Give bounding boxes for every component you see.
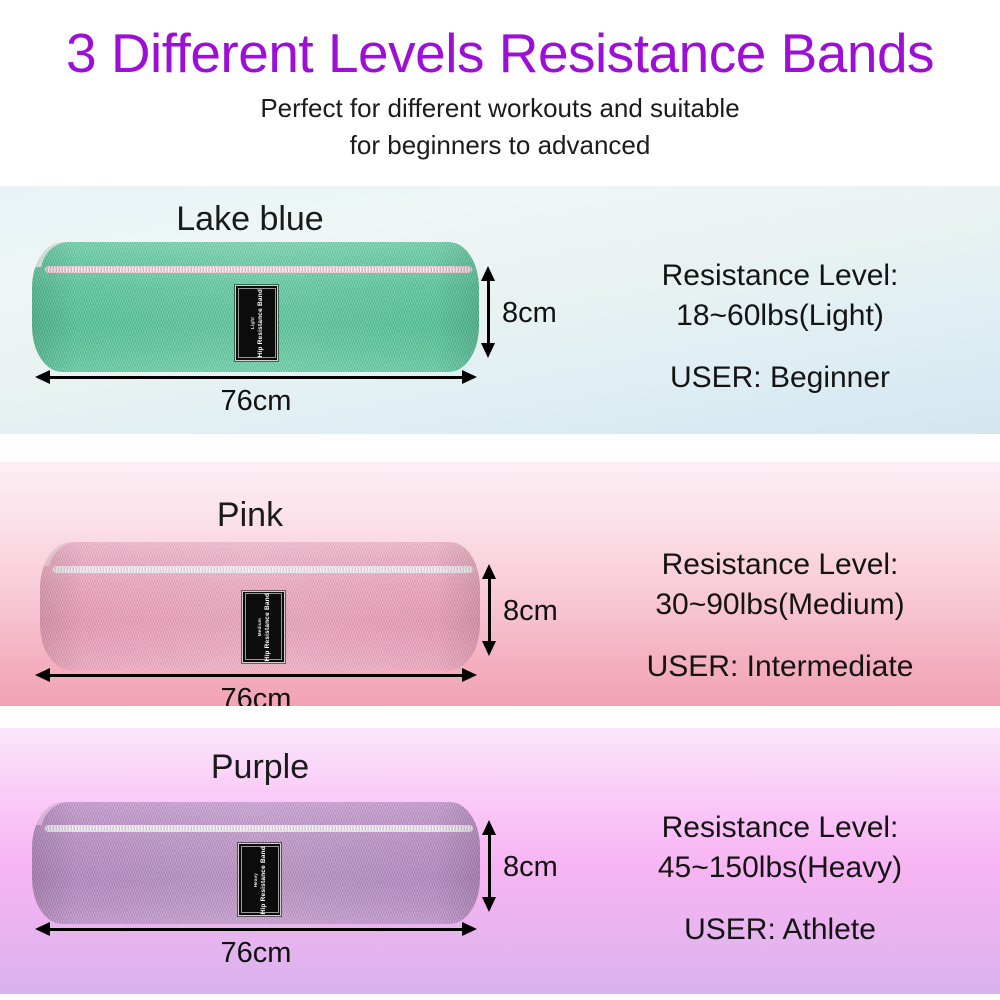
- color-name-pink: Pink: [70, 496, 430, 535]
- user-level-label: USER: Beginner: [570, 336, 990, 398]
- band-image-purple: Hip Resistance Band Heavy: [32, 802, 480, 924]
- user-level-label: USER: Athlete: [570, 888, 990, 950]
- tag-level-text: Light: [250, 317, 255, 329]
- arrow-down-icon: [482, 641, 496, 656]
- dimension-line: [488, 829, 491, 903]
- band-panel-purple: Purple Hip Resistance Band Heavy 76cm 8c…: [0, 728, 1000, 994]
- arrow-right-icon: [462, 370, 477, 384]
- page-subtitle: Perfect for different workouts and suita…: [0, 84, 1000, 164]
- tag-level-text: Medium: [257, 618, 262, 636]
- width-label-lake-blue: 76cm: [35, 385, 477, 418]
- band-image-lake-blue: Hip Resistance Band Light: [32, 242, 479, 372]
- height-label-lake-blue: 8cm: [502, 297, 557, 330]
- band-info-pink: Resistance Level: 30~90lbs(Medium) USER:…: [570, 545, 990, 687]
- page-title: 3 Different Levels Resistance Bands: [0, 0, 1000, 84]
- dimension-line: [44, 376, 468, 379]
- height-label-purple: 8cm: [503, 851, 558, 884]
- resistance-level-label: Resistance Level:: [570, 808, 990, 848]
- header: 3 Different Levels Resistance Bands Perf…: [0, 0, 1000, 186]
- width-dimension-arrow-pink: [35, 666, 477, 684]
- band-panel-pink: Pink Hip Resistance Band Medium 76cm 8cm: [0, 462, 1000, 706]
- width-label-purple: 76cm: [35, 937, 477, 970]
- dimension-line: [44, 928, 468, 931]
- band-image-pink: Hip Resistance Band Medium: [40, 542, 480, 670]
- arrow-right-icon: [462, 922, 477, 936]
- dimension-line: [488, 573, 491, 647]
- height-dimension-arrow-pink: [480, 564, 498, 656]
- height-dimension-arrow-purple: [480, 820, 498, 912]
- resistance-level-label: Resistance Level:: [570, 545, 990, 585]
- tag-level-text: Heavy: [253, 873, 258, 887]
- panel-divider-1: [0, 434, 1000, 462]
- user-level-label: USER: Intermediate: [570, 625, 990, 687]
- panel-divider-2: [0, 706, 1000, 728]
- color-name-lake-blue: Lake blue: [70, 200, 430, 239]
- resistance-level-value: 18~60lbs(Light): [570, 296, 990, 336]
- tag-brand-text: Hip Resistance Band: [264, 593, 271, 661]
- subtitle-line-2: for beginners to advanced: [0, 127, 1000, 164]
- band-brand-tag-purple: Hip Resistance Band Heavy: [238, 843, 281, 916]
- arrow-right-icon: [462, 668, 477, 682]
- height-label-pink: 8cm: [503, 595, 558, 628]
- color-name-purple: Purple: [80, 748, 440, 787]
- width-dimension-arrow-lake-blue: [35, 368, 477, 386]
- band-brand-tag-pink: Hip Resistance Band Medium: [242, 591, 284, 663]
- resistance-level-value: 30~90lbs(Medium): [570, 585, 990, 625]
- dimension-line: [44, 674, 468, 677]
- band-info-purple: Resistance Level: 45~150lbs(Heavy) USER:…: [570, 808, 990, 950]
- width-label-pink: 76cm: [35, 683, 477, 706]
- tag-brand-text: Hip Resistance Band: [260, 846, 267, 914]
- arrow-down-icon: [481, 343, 495, 358]
- band-panel-lake-blue: Lake blue Hip Resistance Band Light 76cm…: [0, 186, 1000, 434]
- arrow-down-icon: [482, 897, 496, 912]
- dimension-line: [487, 275, 490, 349]
- width-dimension-arrow-purple: [35, 920, 477, 938]
- resistance-level-label: Resistance Level:: [570, 256, 990, 296]
- band-brand-tag-lake-blue: Hip Resistance Band Light: [235, 285, 278, 361]
- resistance-level-value: 45~150lbs(Heavy): [570, 848, 990, 888]
- height-dimension-arrow-lake-blue: [479, 266, 497, 358]
- tag-brand-text: Hip Resistance Band: [257, 289, 264, 357]
- band-info-lake-blue: Resistance Level: 18~60lbs(Light) USER: …: [570, 256, 990, 398]
- subtitle-line-1: Perfect for different workouts and suita…: [0, 90, 1000, 127]
